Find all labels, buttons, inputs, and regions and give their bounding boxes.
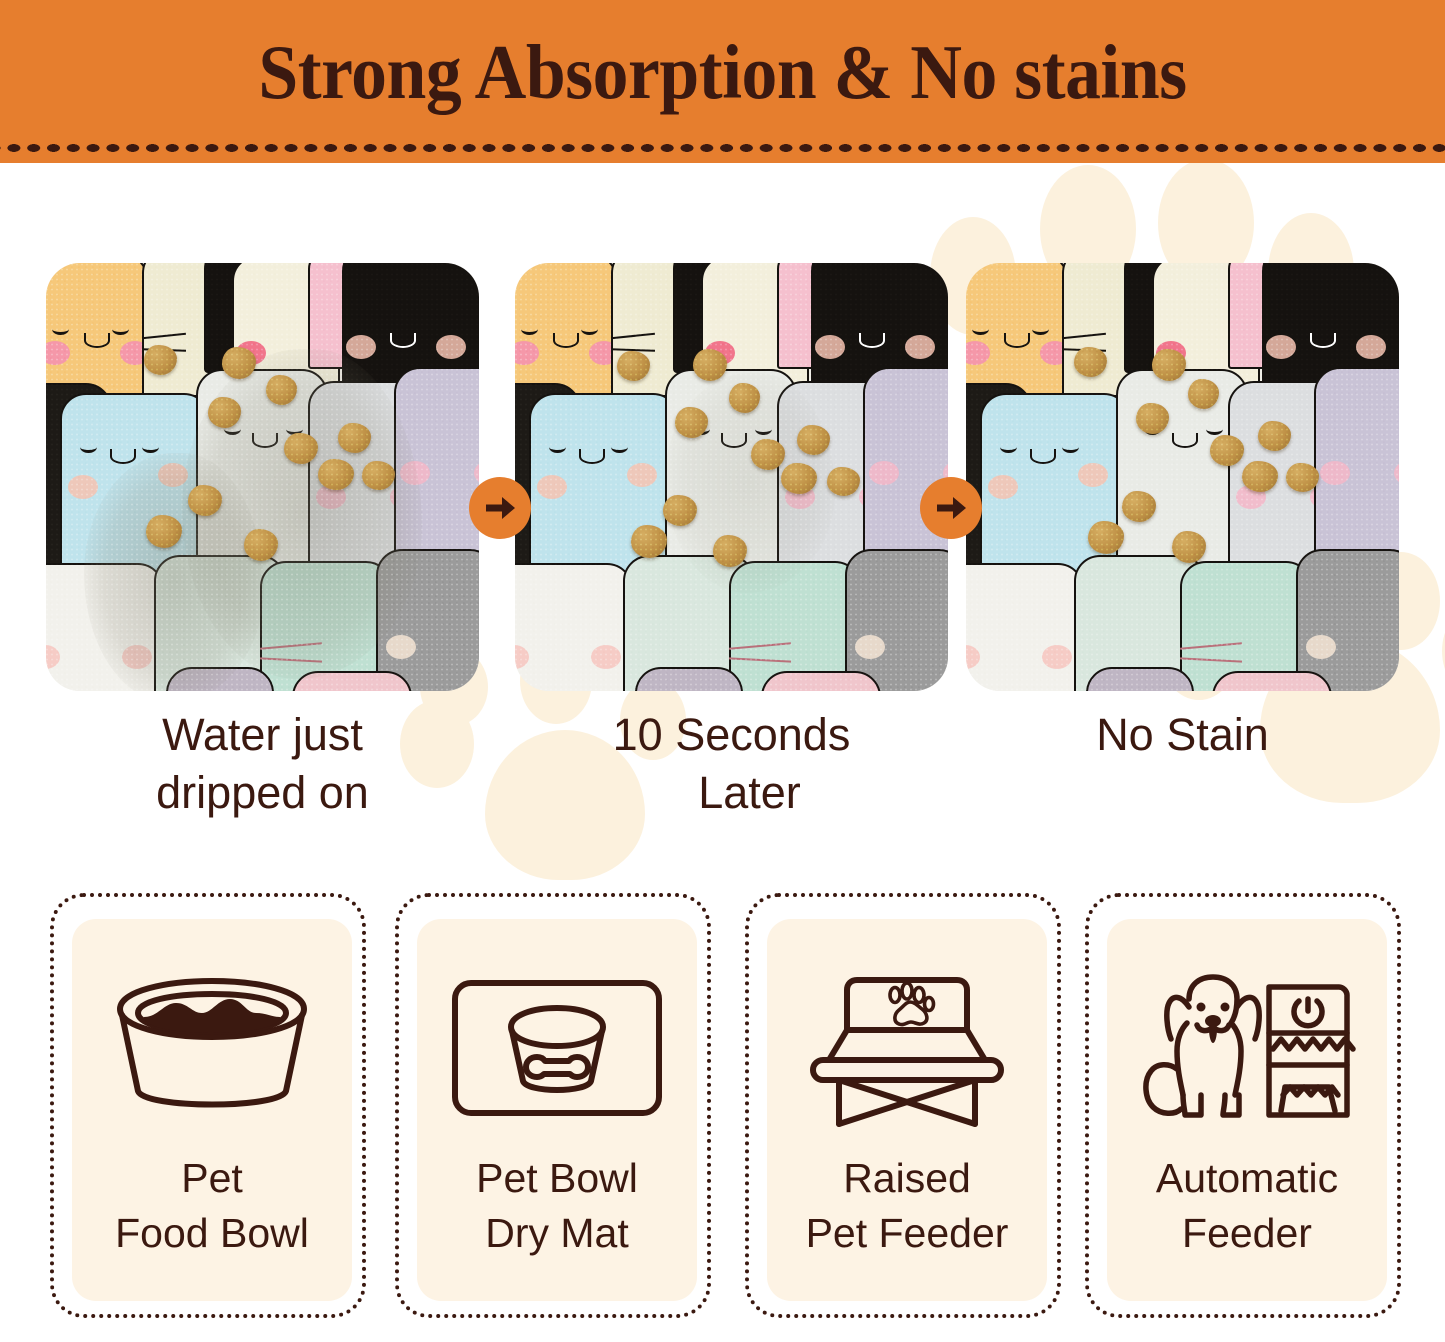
use-case-label-4: Automatic Feeder [1107,1151,1387,1262]
use-case-card-pet-food-bowl[interactable]: Pet Food Bowl [50,893,366,1318]
demo-caption-1-line1: Water just [162,709,363,760]
use-case-label-1-line2: Food Bowl [72,1206,352,1261]
demo-caption-3-line1: No Stain [1096,709,1269,760]
pet-food-bowl-icon [72,953,352,1143]
demo-caption-2: 10 Seconds Later [515,706,948,821]
card-inner-2: Pet Bowl Dry Mat [417,919,697,1301]
demo-caption-3: No Stain [966,706,1399,764]
arrow-right-icon-1 [469,477,531,539]
use-case-label-2-line2: Dry Mat [417,1206,697,1261]
use-case-cards: Pet Food Bowl [0,893,1445,1318]
use-case-label-3-line1: Raised [843,1155,971,1201]
card-inner-3: Raised Pet Feeder [767,919,1047,1301]
demo-caption-1-line2: dripped on [46,764,479,822]
use-case-label-3: Raised Pet Feeder [767,1151,1047,1262]
automatic-feeder-icon [1107,953,1387,1143]
use-case-label-2-line1: Pet Bowl [476,1155,638,1201]
banner-dotted-divider [0,142,1445,154]
use-case-label-4-line1: Automatic [1156,1155,1338,1201]
raised-pet-feeder-icon [767,953,1047,1143]
demo-caption-2-line2: Later [515,764,948,822]
use-case-label-1: Pet Food Bowl [72,1151,352,1262]
demo-caption-1: Water just dripped on [46,706,479,821]
use-case-card-automatic-feeder[interactable]: Automatic Feeder [1085,893,1401,1318]
use-case-label-2: Pet Bowl Dry Mat [417,1151,697,1262]
demo-photo-step-2 [515,263,948,691]
infographic-page: Strong Absorption & No stains [0,0,1445,1342]
arrow-right-icon-2 [920,477,982,539]
use-case-label-4-line2: Feeder [1107,1206,1387,1261]
card-inner-4: Automatic Feeder [1107,919,1387,1301]
header-banner: Strong Absorption & No stains [0,0,1445,163]
use-case-card-pet-bowl-dry-mat[interactable]: Pet Bowl Dry Mat [395,893,711,1318]
pet-bowl-dry-mat-icon [417,953,697,1143]
demo-photo-step-3 [966,263,1399,691]
card-inner-1: Pet Food Bowl [72,919,352,1301]
absorption-demo-strip [0,263,1445,693]
use-case-label-1-line1: Pet [181,1155,243,1201]
banner-title: Strong Absorption & No stains [51,28,1395,117]
use-case-card-raised-pet-feeder[interactable]: Raised Pet Feeder [745,893,1061,1318]
use-case-label-3-line2: Pet Feeder [767,1206,1047,1261]
demo-caption-2-line1: 10 Seconds [613,709,851,760]
demo-photo-step-1 [46,263,479,691]
